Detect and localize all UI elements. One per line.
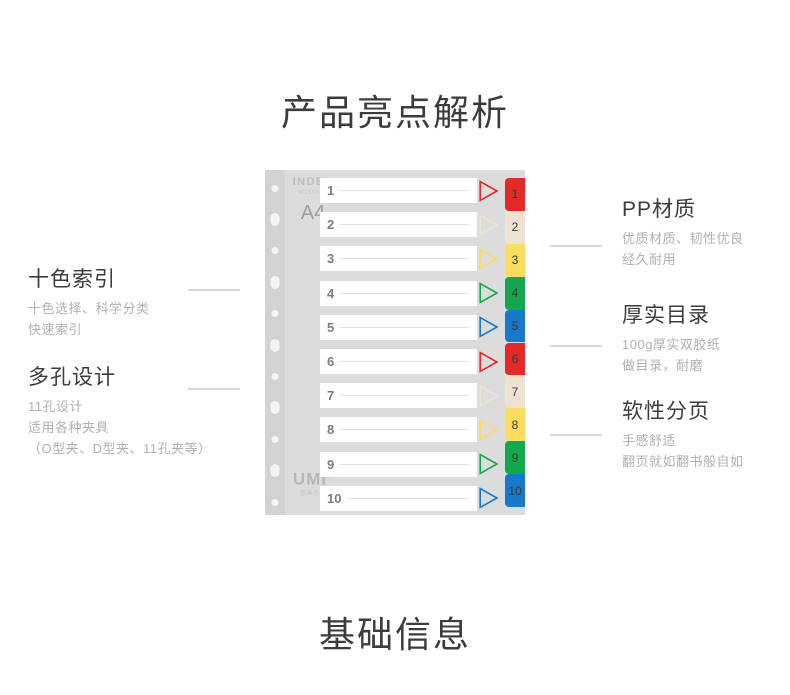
divider-row-number: 8 bbox=[327, 423, 334, 436]
divider-row-card: 7 bbox=[320, 383, 477, 408]
color-tab-number: 8 bbox=[512, 418, 519, 432]
divider-row[interactable]: 7 bbox=[320, 383, 500, 408]
color-tab[interactable]: 7 bbox=[505, 375, 525, 408]
punch-hole bbox=[272, 247, 279, 254]
color-tab[interactable]: 5 bbox=[505, 310, 525, 343]
divider-row-write-line bbox=[340, 293, 469, 294]
divider-row-write-line bbox=[340, 224, 469, 225]
punch-hole bbox=[271, 339, 280, 352]
play-triangle-icon bbox=[478, 487, 499, 509]
punch-hole bbox=[271, 213, 280, 226]
feature-description: 11孔设计 适用各种夹具 （O型夹、D型夹、11孔夹等） bbox=[28, 396, 212, 459]
color-tab-number: 4 bbox=[512, 286, 519, 300]
feature-title: 十色索引 bbox=[28, 266, 150, 294]
feature-block-left-1: 十色索引 十色选择、科学分类 快速索引 bbox=[28, 266, 150, 340]
divider-row[interactable]: 2 bbox=[320, 212, 500, 237]
divider-row-list: 12345678910 bbox=[320, 178, 500, 507]
color-tab-number: 9 bbox=[512, 451, 519, 465]
feature-description: 十色选择、科学分类 快速索引 bbox=[28, 298, 150, 340]
divider-row-number: 9 bbox=[327, 458, 334, 471]
divider-row-card: 1 bbox=[320, 178, 477, 203]
color-tab[interactable]: 4 bbox=[505, 277, 525, 310]
play-triangle-icon bbox=[478, 351, 499, 373]
feature-block-right-1: PP材质 优质材质、韧性优良 经久耐用 bbox=[622, 196, 744, 270]
feature-desc-line: （O型夹、D型夹、11孔夹等） bbox=[28, 438, 212, 459]
color-tab-number: 6 bbox=[512, 352, 519, 366]
feature-desc-line: 手感舒适 bbox=[622, 430, 744, 451]
divider-row-card: 10 bbox=[320, 486, 477, 511]
feature-title: 多孔设计 bbox=[28, 364, 212, 392]
connector-right-1 bbox=[550, 245, 602, 247]
divider-row[interactable]: 5 bbox=[320, 315, 500, 340]
punch-hole bbox=[271, 464, 280, 477]
divider-row-write-line bbox=[340, 361, 469, 362]
feature-title: PP材质 bbox=[622, 196, 744, 224]
punch-hole-spine bbox=[265, 170, 285, 515]
page-title-bottom: 基础信息 bbox=[0, 606, 790, 658]
divider-row[interactable]: 8 bbox=[320, 417, 500, 442]
feature-description: 手感舒适 翻页就如翻书般自如 bbox=[622, 430, 744, 472]
color-tab[interactable]: 3 bbox=[505, 244, 525, 277]
feature-desc-line: 快速索引 bbox=[28, 319, 150, 340]
play-triangle-icon bbox=[478, 316, 499, 338]
divider-row-write-line bbox=[347, 498, 469, 499]
color-tab-number: 3 bbox=[512, 253, 519, 267]
play-triangle-icon bbox=[478, 248, 499, 270]
divider-row[interactable]: 3 bbox=[320, 246, 500, 271]
divider-row[interactable]: 10 bbox=[320, 486, 500, 511]
feature-block-right-2: 厚实目录 100g厚实双胶纸 做目录，耐磨 bbox=[622, 302, 720, 376]
play-triangle-icon bbox=[478, 180, 499, 202]
punch-hole bbox=[272, 185, 279, 192]
divider-row-write-line bbox=[340, 429, 469, 430]
divider-row-number: 3 bbox=[327, 252, 334, 265]
feature-desc-line: 100g厚实双胶纸 bbox=[622, 334, 720, 355]
divider-row-number: 4 bbox=[327, 287, 334, 300]
feature-desc-line: 适用各种夹具 bbox=[28, 417, 212, 438]
connector-left-1 bbox=[188, 289, 240, 291]
divider-row-number: 2 bbox=[327, 218, 334, 231]
punch-hole bbox=[272, 499, 279, 506]
play-triangle-icon bbox=[478, 282, 499, 304]
color-tab[interactable]: 2 bbox=[505, 211, 525, 244]
divider-row-write-line bbox=[340, 190, 469, 191]
divider-row-card: 3 bbox=[320, 246, 477, 271]
feature-block-right-3: 软性分页 手感舒适 翻页就如翻书般自如 bbox=[622, 398, 744, 472]
page-title-top: 产品亮点解析 bbox=[0, 84, 790, 136]
divider-row-write-line bbox=[340, 464, 469, 465]
color-tab-strip: 12345678910 bbox=[505, 170, 525, 515]
play-triangle-icon bbox=[478, 214, 499, 236]
divider-row[interactable]: 9 bbox=[320, 452, 500, 477]
divider-row-number: 1 bbox=[327, 184, 334, 197]
divider-row-card: 6 bbox=[320, 349, 477, 374]
play-triangle-icon bbox=[478, 453, 499, 475]
feature-desc-line: 做目录，耐磨 bbox=[622, 355, 720, 376]
color-tab-number: 2 bbox=[512, 220, 519, 234]
divider-row-card: 5 bbox=[320, 315, 477, 340]
feature-description: 优质材质、韧性优良 经久耐用 bbox=[622, 228, 744, 270]
play-triangle-icon bbox=[478, 385, 499, 407]
divider-row-card: 8 bbox=[320, 417, 477, 442]
divider-row-number: 5 bbox=[327, 321, 334, 334]
color-tab[interactable]: 6 bbox=[505, 343, 525, 376]
divider-row[interactable]: 6 bbox=[320, 349, 500, 374]
punch-hole bbox=[271, 401, 280, 414]
feature-desc-line: 经久耐用 bbox=[622, 249, 744, 270]
color-tab[interactable]: 9 bbox=[505, 441, 525, 474]
feature-title: 软性分页 bbox=[622, 398, 744, 426]
color-tab-number: 5 bbox=[512, 319, 519, 333]
feature-desc-line: 十色选择、科学分类 bbox=[28, 298, 150, 319]
punch-hole bbox=[272, 310, 279, 317]
feature-desc-line: 11孔设计 bbox=[28, 396, 212, 417]
color-tab[interactable]: 1 bbox=[505, 178, 525, 211]
divider-row-number: 6 bbox=[327, 355, 334, 368]
divider-row[interactable]: 1 bbox=[320, 178, 500, 203]
punch-hole bbox=[272, 373, 279, 380]
feature-desc-line: 翻页就如翻书般自如 bbox=[622, 451, 744, 472]
color-tab-number: 10 bbox=[508, 484, 521, 498]
divider-row-card: 9 bbox=[320, 452, 477, 477]
color-tab[interactable]: 10 bbox=[505, 474, 525, 507]
divider-row-card: 2 bbox=[320, 212, 477, 237]
divider-row-number: 10 bbox=[327, 492, 341, 505]
play-triangle-icon bbox=[478, 419, 499, 441]
connector-right-3 bbox=[550, 434, 602, 436]
divider-row-write-line bbox=[340, 327, 469, 328]
punch-hole bbox=[271, 276, 280, 289]
divider-row-card: 4 bbox=[320, 281, 477, 306]
connector-right-2 bbox=[550, 345, 602, 347]
feature-desc-line: 优质材质、韧性优良 bbox=[622, 228, 744, 249]
color-tab-number: 1 bbox=[512, 187, 519, 201]
divider-row-number: 7 bbox=[327, 389, 334, 402]
feature-description: 100g厚实双胶纸 做目录，耐磨 bbox=[622, 334, 720, 376]
divider-row-write-line bbox=[340, 258, 469, 259]
color-tab[interactable]: 8 bbox=[505, 408, 525, 441]
feature-block-left-2: 多孔设计 11孔设计 适用各种夹具 （O型夹、D型夹、11孔夹等） bbox=[28, 364, 212, 459]
feature-title: 厚实目录 bbox=[622, 302, 720, 330]
divider-row[interactable]: 4 bbox=[320, 281, 500, 306]
color-tab-number: 7 bbox=[512, 385, 519, 399]
divider-row-write-line bbox=[340, 395, 469, 396]
product-illustration: INDEX W16001X A4 UMI® 悠米办公 12345678910 1… bbox=[265, 170, 525, 515]
punch-hole bbox=[272, 436, 279, 443]
